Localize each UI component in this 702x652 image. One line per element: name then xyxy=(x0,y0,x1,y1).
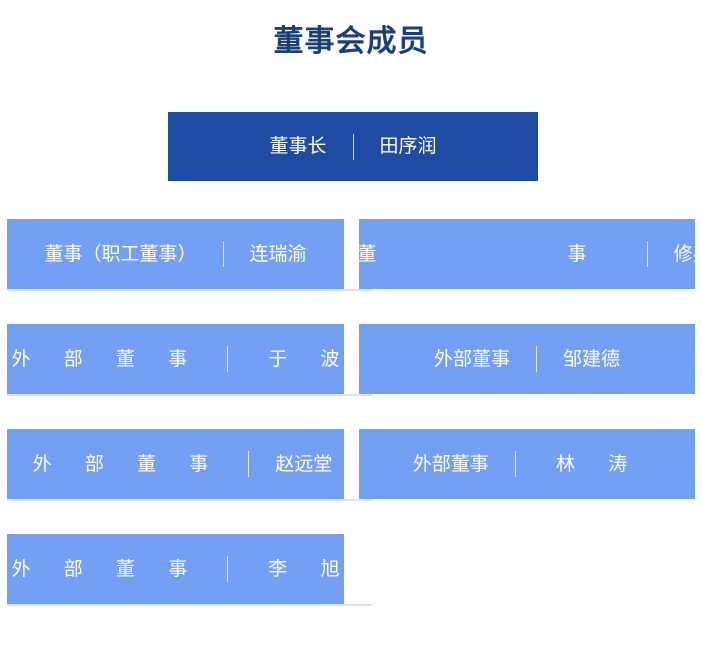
member-role: 外部董事 xyxy=(413,455,489,474)
page-title: 董事会成员 xyxy=(0,22,702,62)
member-card-3-0[interactable]: 外 部 董 事 李 旭 xyxy=(7,534,344,604)
divider-icon xyxy=(227,556,228,582)
member-role: 外 部 董 事 xyxy=(0,350,201,369)
member-row: 外 部 董 事 李 旭 xyxy=(7,534,695,604)
member-name: 修兆强 xyxy=(674,245,702,264)
chairman-card[interactable]: 董事长 田序润 xyxy=(168,112,538,181)
divider-icon xyxy=(223,241,224,267)
member-name: 赵远堂 xyxy=(275,455,332,474)
member-card-1-1[interactable]: 外部董事 邹建德 xyxy=(359,324,695,394)
member-role: 董事（职工董事） xyxy=(44,245,196,264)
row-divider xyxy=(7,499,372,501)
row-divider xyxy=(7,604,372,606)
member-name: 林 涛 xyxy=(542,455,641,474)
divider-icon xyxy=(353,134,354,160)
member-role: 外部董事 xyxy=(434,350,510,369)
board-members-page: 董事会成员 董事长 田序润 董事（职工董事） 连瑞渝 董 事 修兆强 xyxy=(0,0,702,652)
row-divider xyxy=(7,394,372,396)
chairman-role: 董事长 xyxy=(269,137,326,156)
row-divider xyxy=(7,289,372,291)
chairman-name: 田序润 xyxy=(380,137,437,156)
divider-icon xyxy=(515,451,516,477)
member-row: 外 部 董 事 于 波 外部董事 邹建德 xyxy=(7,324,695,394)
member-card-1-0[interactable]: 外 部 董 事 于 波 xyxy=(7,324,344,394)
member-name: 于 波 xyxy=(254,350,353,369)
member-role: 外 部 董 事 xyxy=(19,455,223,474)
divider-icon xyxy=(647,241,648,267)
member-role: 外 部 董 事 xyxy=(0,560,201,579)
member-card-0-1[interactable]: 董 事 修兆强 xyxy=(359,219,695,289)
member-name: 邹建德 xyxy=(563,350,620,369)
chairman-row: 董事长 田序润 xyxy=(168,112,538,181)
member-row: 董事（职工董事） 连瑞渝 董 事 修兆强 xyxy=(7,219,695,289)
member-card-2-1[interactable]: 外部董事 林 涛 xyxy=(359,429,695,499)
member-row: 外 部 董 事 赵远堂 外部董事 林 涛 xyxy=(7,429,695,499)
member-card-0-0[interactable]: 董事（职工董事） 连瑞渝 xyxy=(7,219,344,289)
member-name: 连瑞渝 xyxy=(250,245,307,264)
member-role: 董 事 xyxy=(323,245,620,264)
divider-icon xyxy=(536,346,537,372)
member-grid: 董事（职工董事） 连瑞渝 董 事 修兆强 外 部 董 事 于 波 xyxy=(7,219,695,639)
member-name: 李 旭 xyxy=(254,560,353,579)
divider-icon xyxy=(227,346,228,372)
divider-icon xyxy=(248,451,249,477)
member-card-2-0[interactable]: 外 部 董 事 赵远堂 xyxy=(7,429,344,499)
